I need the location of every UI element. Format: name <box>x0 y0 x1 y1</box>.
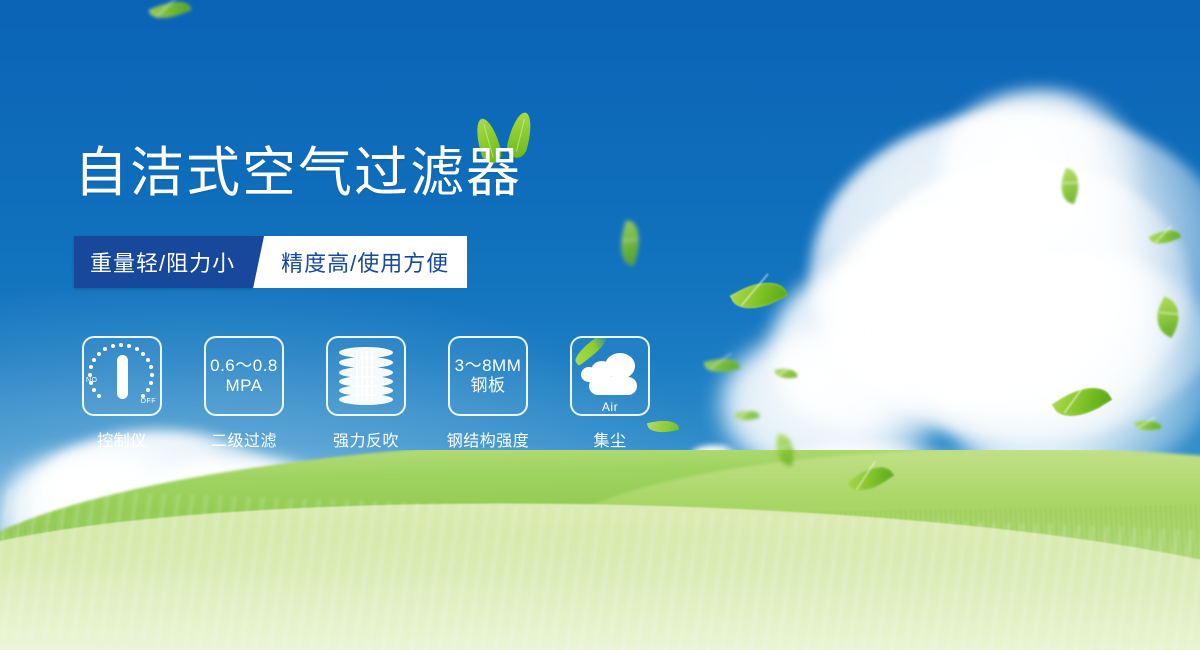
product-hero-banner: 自洁式空气过滤器 重量轻/阻力小 精度高/使用方便 <box>0 0 1200 650</box>
grass-meadow <box>0 450 1200 650</box>
subtitle-right-segment: 精度高/使用方便 <box>279 236 467 288</box>
subtitle-divider-wedge <box>253 236 279 288</box>
pressure-value: 0.6～0.8 <box>210 356 278 376</box>
page-title: 自洁式空气过滤器 <box>74 146 522 200</box>
feature-item[interactable]: 3～8MM 钢板 钢结构强度 <box>442 336 534 451</box>
subtitle-left-segment: 重量轻/阻力小 <box>74 236 253 288</box>
gauge-dial-icon: NO OFF <box>88 343 156 409</box>
gauge-label-off: OFF <box>141 398 157 405</box>
feature-caption: 钢结构强度 <box>447 427 530 451</box>
feature-icon-box <box>326 336 406 416</box>
feature-icon-box: 3～8MM 钢板 <box>448 336 528 416</box>
steel-thickness: 3～8MM <box>455 356 522 376</box>
feature-item[interactable]: 强力反吹 <box>320 336 412 451</box>
feature-list: NO OFF 控制仪 0.6～0.8 MPA 二级过滤 <box>76 336 656 451</box>
feature-icon-box: NO OFF <box>82 336 162 416</box>
feature-item[interactable]: NO OFF 控制仪 <box>76 336 168 451</box>
feature-caption: 控制仪 <box>97 427 147 451</box>
air-label: Air <box>579 400 641 414</box>
cloud-base <box>589 377 637 395</box>
grass-sheen <box>0 510 1200 650</box>
steel-material: 钢板 <box>455 376 522 396</box>
feature-caption: 二级过滤 <box>211 427 277 451</box>
pressure-text-icon: 0.6～0.8 MPA <box>210 356 278 395</box>
feature-icon-box: 0.6～0.8 MPA <box>204 336 284 416</box>
pressure-unit: MPA <box>210 376 278 396</box>
gauge-needle <box>117 355 128 399</box>
feature-caption: 集尘 <box>593 427 626 451</box>
filter-stack-icon <box>339 347 393 405</box>
feature-item[interactable]: Air 集尘 <box>564 336 656 451</box>
air-cloud-icon: Air <box>579 351 641 401</box>
subtitle-bar: 重量轻/阻力小 精度高/使用方便 <box>74 236 467 288</box>
feature-caption: 强力反吹 <box>333 427 399 451</box>
feature-item[interactable]: 0.6～0.8 MPA 二级过滤 <box>198 336 290 451</box>
feature-icon-box: Air <box>570 336 650 416</box>
gauge-label-no: NO <box>86 377 98 384</box>
steel-plate-text-icon: 3～8MM 钢板 <box>455 356 522 395</box>
